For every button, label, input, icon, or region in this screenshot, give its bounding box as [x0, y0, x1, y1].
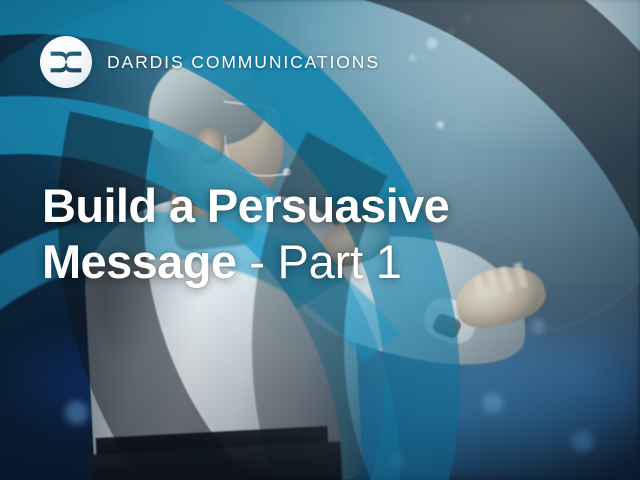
title-block: Build a Persuasive Message - Part 1: [42, 178, 602, 290]
title-card: DARDIS COMMUNICATIONS Build a Persuasive…: [0, 0, 640, 480]
title-line-1: Build a Persuasive: [42, 178, 602, 234]
brand-name: DARDIS COMMUNICATIONS: [107, 52, 380, 73]
title-line-2-light: - Part 1: [236, 235, 401, 288]
title-line-2-bold: Message: [42, 235, 236, 288]
title-line-2: Message - Part 1: [42, 234, 602, 290]
brand-lockup: DARDIS COMMUNICATIONS: [40, 36, 380, 88]
dardis-dc-monogram-icon: [40, 36, 92, 88]
